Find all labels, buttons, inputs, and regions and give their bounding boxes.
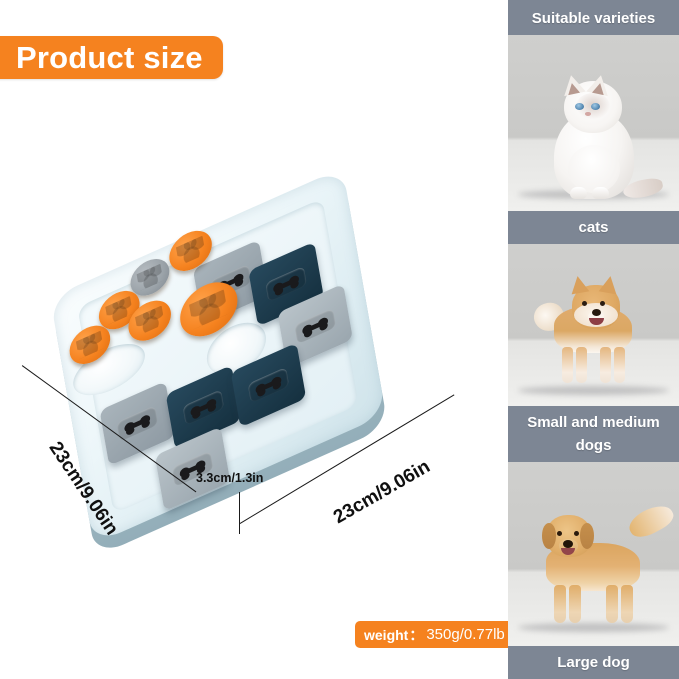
paw-print-icon [137, 264, 164, 291]
weight-value: 350g/0.77lb [426, 626, 504, 643]
sidebar-heading: Suitable varieties [508, 0, 679, 35]
shiba-inu-illustration [538, 273, 650, 393]
weight-colon: ： [409, 625, 423, 645]
paw-print-icon [135, 306, 164, 336]
variety-panel-large-dog: Large dog [508, 462, 679, 679]
variety-caption-cats: cats [508, 211, 679, 244]
dimension-label-thickness: 3.3cm/1.3in [196, 471, 263, 485]
dimension-tick-thickness [239, 492, 240, 534]
cat-photo [508, 35, 679, 211]
paw-print-icon [189, 289, 228, 329]
bone-icon [248, 367, 290, 403]
board-top-surface [50, 168, 386, 545]
bone-icon [294, 308, 336, 344]
variety-panel-cats: cats [508, 35, 679, 244]
puzzle-board-3d [50, 168, 386, 545]
variety-caption-small-medium-dogs: Small and medium dogs [508, 406, 679, 462]
bone-icon [183, 389, 225, 425]
product-size-banner-label: Product size [16, 42, 203, 73]
suitable-varieties-sidebar: Suitable varieties cats [508, 0, 679, 679]
product-infographic: Product size [0, 0, 679, 679]
shiba-photo [508, 244, 679, 406]
weight-label: weight [364, 627, 408, 643]
weight-badge: weight ： 350g/0.77lb [355, 621, 514, 648]
bone-icon [265, 266, 307, 302]
product-size-banner: Product size [0, 36, 223, 79]
paw-print-icon [76, 330, 104, 359]
bone-icon [116, 405, 158, 441]
paw-print-icon [176, 236, 205, 266]
golden-retriever-illustration [528, 509, 660, 633]
ragdoll-cat-illustration [542, 81, 646, 199]
variety-panel-small-medium-dogs: Small and medium dogs [508, 244, 679, 462]
variety-caption-large-dog: Large dog [508, 646, 679, 679]
golden-retriever-photo [508, 462, 679, 646]
